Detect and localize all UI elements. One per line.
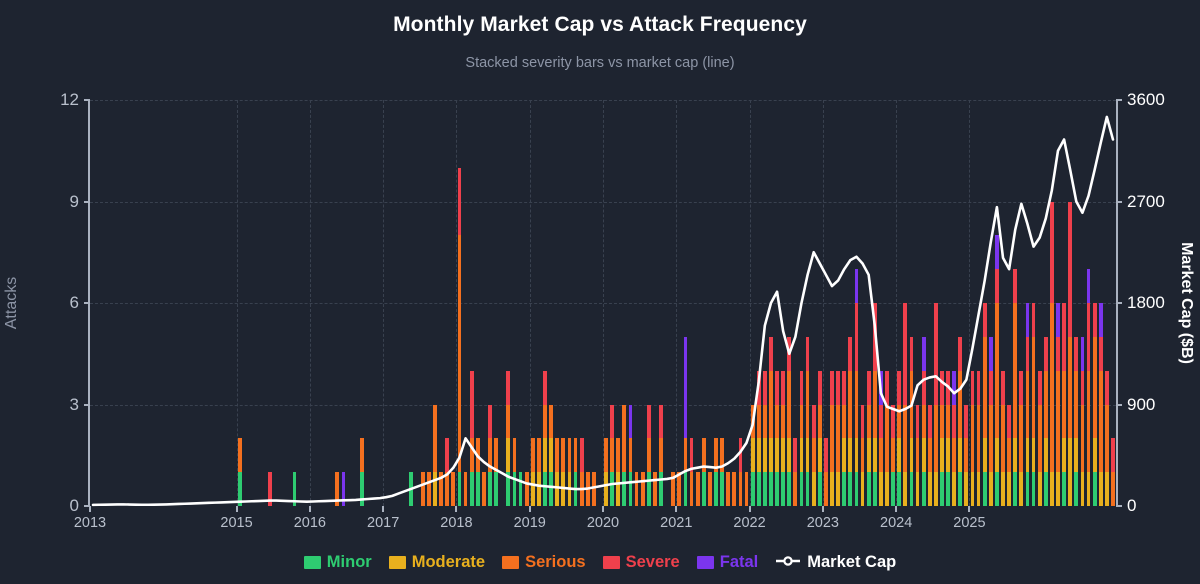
y-tick-mark-left (84, 201, 90, 203)
x-tick-mark (309, 506, 311, 512)
legend-label: Minor (327, 553, 372, 572)
chart-subtitle: Stacked severity bars vs market cap (lin… (0, 55, 1200, 71)
legend-item-market-cap[interactable]: Market Cap (775, 553, 896, 572)
legend-swatch-icon (697, 556, 714, 569)
market-cap-line-path (93, 117, 1113, 505)
x-tick-mark (602, 506, 604, 512)
y-tick-mark-right (1116, 302, 1122, 304)
legend-label: Serious (525, 553, 586, 572)
x-tick-mark (749, 506, 751, 512)
x-tick-mark (529, 506, 531, 512)
legend-item-moderate[interactable]: Moderate (389, 553, 485, 572)
y-axis-label-left: Attacks (3, 277, 21, 329)
y-tick-label-right: 3600 (1116, 90, 1165, 110)
x-tick-mark (455, 506, 457, 512)
chart-legend: MinorModerateSeriousSevereFatalMarket Ca… (0, 553, 1200, 572)
chart-container: Monthly Market Cap vs Attack Frequency S… (0, 0, 1200, 584)
legend-label: Moderate (412, 553, 485, 572)
y-tick-mark-right (1116, 99, 1122, 101)
legend-item-fatal[interactable]: Fatal (697, 553, 759, 572)
line-circle-marker-icon (775, 554, 801, 572)
x-tick-mark (382, 506, 384, 512)
x-tick-mark (822, 506, 824, 512)
x-tick-mark (968, 506, 970, 512)
legend-label: Severe (626, 553, 680, 572)
legend-item-serious[interactable]: Serious (502, 553, 586, 572)
y-tick-mark-right (1116, 404, 1122, 406)
market-cap-line-group (90, 100, 1116, 506)
legend-swatch-icon (304, 556, 321, 569)
x-tick-mark (89, 506, 91, 512)
y-tick-mark-right (1116, 201, 1122, 203)
y-axis-label-right: Market Cap ($B) (1177, 242, 1195, 364)
chart-title: Monthly Market Cap vs Attack Frequency (0, 13, 1200, 37)
y-tick-mark-left (84, 404, 90, 406)
y-tick-mark-left (84, 99, 90, 101)
legend-swatch-icon (603, 556, 620, 569)
legend-label: Fatal (720, 553, 759, 572)
y-tick-mark-left (84, 302, 90, 304)
legend-swatch-icon (389, 556, 406, 569)
y-tick-label-right: 1800 (1116, 293, 1165, 313)
legend-item-minor[interactable]: Minor (304, 553, 372, 572)
legend-swatch-icon (502, 556, 519, 569)
y-tick-label-right: 2700 (1116, 192, 1165, 212)
legend-label: Market Cap (807, 553, 896, 572)
plot-area: 036912 0900180027003600 2013201520162017… (90, 100, 1116, 506)
x-tick-mark (675, 506, 677, 512)
y-tick-mark-right (1116, 505, 1122, 507)
x-tick-mark (236, 506, 238, 512)
x-tick-mark (895, 506, 897, 512)
legend-item-severe[interactable]: Severe (603, 553, 680, 572)
